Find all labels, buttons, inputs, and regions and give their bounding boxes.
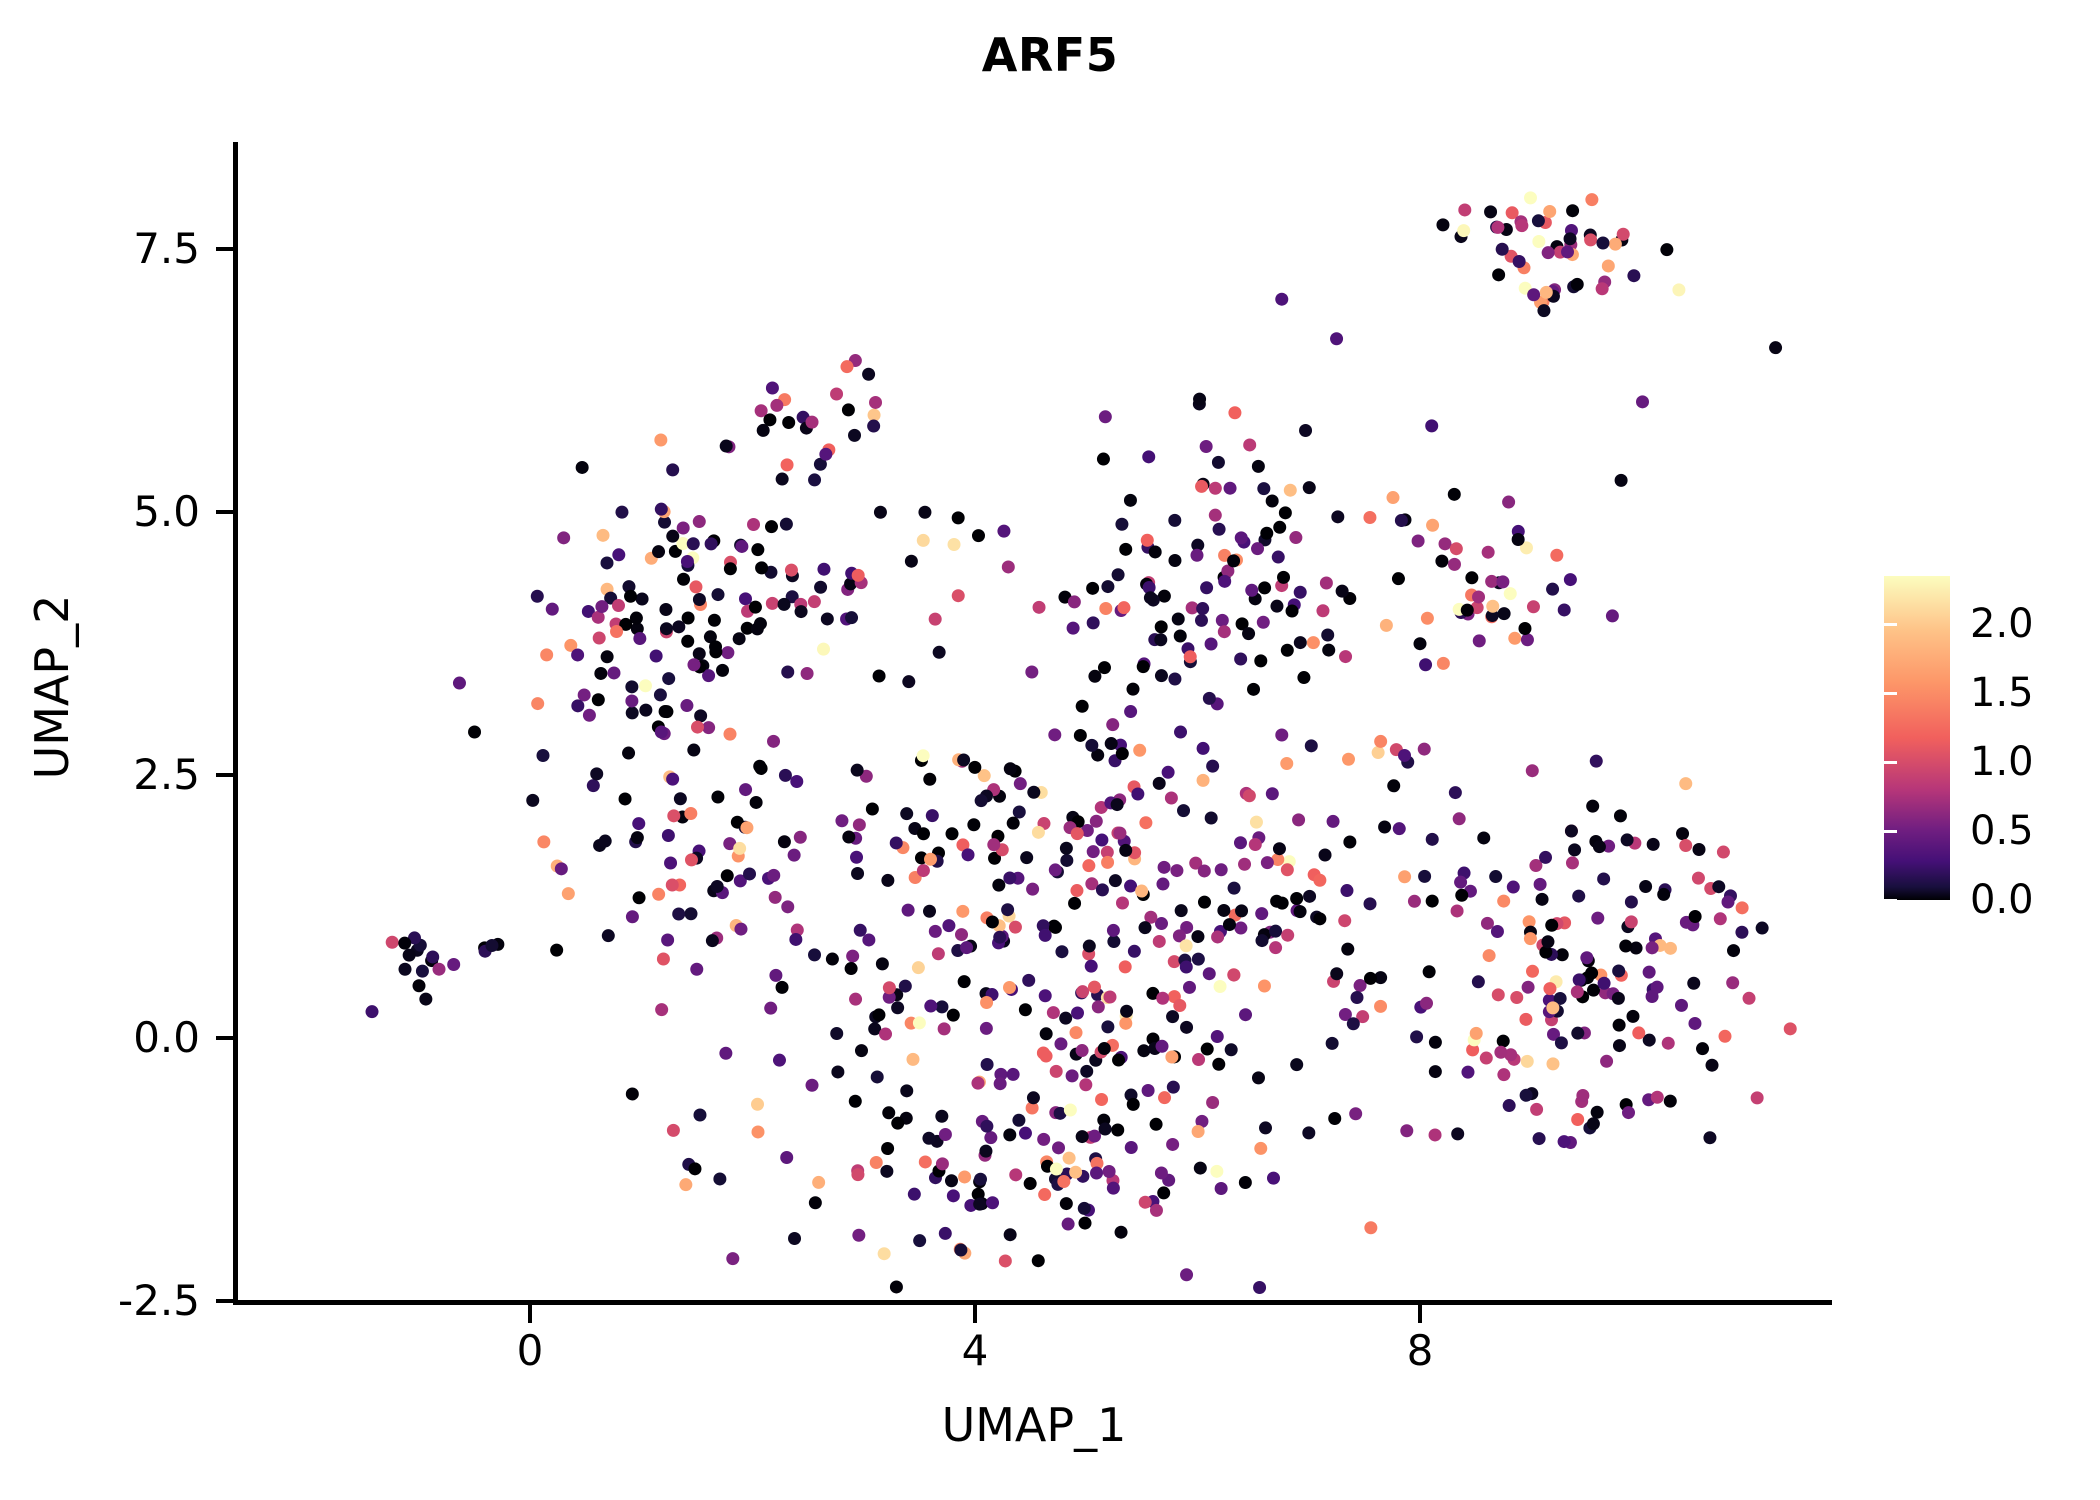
scatter-point xyxy=(1527,600,1540,613)
scatter-point xyxy=(992,879,1005,892)
scatter-point xyxy=(1326,1037,1339,1050)
scatter-point xyxy=(1565,825,1578,838)
scatter-point xyxy=(785,564,798,577)
scatter-point xyxy=(1284,484,1297,497)
scatter-point xyxy=(1484,205,1497,218)
y-tick-label: -2.5 xyxy=(0,1280,200,1322)
scatter-point xyxy=(763,413,776,426)
scatter-point xyxy=(1085,960,1098,973)
x-tick-label: 4 xyxy=(895,1330,1055,1372)
plot-panel[interactable] xyxy=(236,142,1832,1303)
scatter-point xyxy=(1217,904,1230,917)
scatter-point xyxy=(880,1165,893,1178)
scatter-point xyxy=(693,593,706,606)
scatter-point xyxy=(1007,817,1020,830)
scatter-point xyxy=(1067,622,1080,635)
scatter-point xyxy=(938,1022,951,1035)
scatter-point xyxy=(1688,1017,1701,1030)
scatter-point xyxy=(1107,935,1120,948)
scatter-point xyxy=(1166,1138,1179,1151)
scatter-point xyxy=(1167,1081,1180,1094)
scatter-point xyxy=(1198,864,1211,877)
scatter-point xyxy=(881,874,894,887)
scatter-point xyxy=(633,891,646,904)
scatter-point xyxy=(1281,929,1294,942)
scatter-point xyxy=(808,473,821,486)
scatter-point xyxy=(1052,1141,1065,1154)
scatter-point xyxy=(1717,846,1730,859)
scatter-point xyxy=(776,473,789,486)
scatter-point xyxy=(1719,1030,1732,1043)
scatter-point xyxy=(666,878,679,891)
scatter-point xyxy=(776,981,789,994)
scatter-point xyxy=(1481,917,1494,930)
scatter-point xyxy=(666,773,679,786)
scatter-point xyxy=(666,463,679,476)
scatter-point xyxy=(1247,683,1260,696)
scatter-point xyxy=(654,688,667,701)
scatter-point xyxy=(601,650,614,663)
scatter-point xyxy=(1270,895,1283,908)
scatter-point xyxy=(1736,901,1749,914)
scatter-point xyxy=(902,904,915,917)
scatter-point xyxy=(1662,1037,1675,1050)
scatter-point xyxy=(1303,890,1316,903)
scatter-point xyxy=(619,792,632,805)
scatter-point xyxy=(716,664,729,677)
scatter-point xyxy=(1330,332,1343,345)
scatter-point xyxy=(773,1054,786,1067)
scatter-point xyxy=(1092,1000,1105,1013)
scatter-point xyxy=(622,747,635,760)
scatter-point xyxy=(1286,605,1299,618)
scatter-point xyxy=(1423,965,1436,978)
scatter-point xyxy=(721,646,734,659)
scatter-point xyxy=(1679,777,1692,790)
colorbar-tick-mark xyxy=(2061,899,2074,902)
scatter-point xyxy=(526,794,539,807)
scatter-point xyxy=(1120,1005,1133,1018)
scatter-point xyxy=(625,680,638,693)
scatter-point xyxy=(1215,863,1228,876)
scatter-point xyxy=(1712,880,1725,893)
scatter-point xyxy=(1245,584,1258,597)
scatter-point xyxy=(780,518,793,531)
x-axis-line xyxy=(236,1300,1832,1305)
scatter-point xyxy=(709,640,722,653)
scatter-point xyxy=(1027,786,1040,799)
scatter-point xyxy=(562,887,575,900)
scatter-point xyxy=(1069,1166,1082,1179)
scatter-point xyxy=(1009,1168,1022,1181)
scatter-point xyxy=(639,704,652,717)
scatter-point xyxy=(936,1157,949,1170)
scatter-point xyxy=(1497,1035,1510,1048)
scatter-point xyxy=(1275,293,1288,306)
scatter-point xyxy=(1486,600,1499,613)
y-tick-label: 7.5 xyxy=(0,228,200,270)
scatter-point xyxy=(1218,575,1231,588)
x-tick-mark xyxy=(1418,1305,1422,1323)
scatter-point xyxy=(657,952,670,965)
scatter-point xyxy=(1436,218,1449,231)
scatter-point xyxy=(1597,872,1610,885)
scatter-point xyxy=(1374,735,1387,748)
scatter-point xyxy=(601,556,614,569)
scatter-point xyxy=(1387,491,1400,504)
scatter-point xyxy=(416,965,429,978)
scatter-point xyxy=(1235,904,1248,917)
scatter-point xyxy=(1144,591,1157,604)
scatter-point xyxy=(662,829,675,842)
scatter-point xyxy=(851,764,864,777)
scatter-point xyxy=(626,1087,639,1100)
colorbar-tick-mark xyxy=(2061,623,2074,626)
scatter-point xyxy=(999,1254,1012,1267)
scatter-point xyxy=(1524,191,1537,204)
scatter-point xyxy=(557,531,570,544)
scatter-point xyxy=(1419,658,1432,671)
scatter-point xyxy=(1003,1128,1016,1141)
scatter-point xyxy=(853,818,866,831)
scatter-point xyxy=(593,632,606,645)
scatter-point xyxy=(612,599,625,612)
scatter-point xyxy=(1426,895,1439,908)
scatter-point xyxy=(972,529,985,542)
scatter-point xyxy=(1227,554,1240,567)
scatter-point xyxy=(540,648,553,661)
scatter-point xyxy=(935,1000,948,1013)
scatter-point xyxy=(1068,897,1081,910)
scatter-point xyxy=(1472,975,1485,988)
colorbar-tick-mark xyxy=(1884,899,1897,902)
scatter-point xyxy=(612,548,625,561)
scatter-point xyxy=(1307,636,1320,649)
scatter-point xyxy=(1380,619,1393,632)
scatter-point xyxy=(987,838,1000,851)
scatter-point xyxy=(419,993,432,1006)
scatter-point xyxy=(1055,945,1068,958)
scatter-point xyxy=(1546,1001,1559,1014)
scatter-point xyxy=(1251,542,1264,555)
scatter-point xyxy=(1703,1131,1716,1144)
scatter-point xyxy=(693,647,706,660)
scatter-point xyxy=(1726,976,1739,989)
scatter-point xyxy=(597,529,610,542)
scatter-point xyxy=(694,709,707,722)
scatter-point xyxy=(1095,833,1108,846)
scatter-point xyxy=(1364,1221,1377,1234)
scatter-point xyxy=(639,679,652,692)
scatter-point xyxy=(905,555,918,568)
scatter-point xyxy=(1526,965,1539,978)
scatter-point xyxy=(935,1110,948,1123)
scatter-point xyxy=(666,530,679,543)
scatter-point xyxy=(1636,395,1649,408)
x-axis-label: UMAP_1 xyxy=(236,1398,1832,1452)
scatter-point xyxy=(1269,941,1282,954)
scatter-point xyxy=(684,907,697,920)
scatter-point xyxy=(1025,665,1038,678)
scatter-point xyxy=(1613,1019,1626,1032)
scatter-point xyxy=(1087,616,1100,629)
scatter-point xyxy=(1319,848,1332,861)
scatter-point xyxy=(531,590,544,603)
scatter-point xyxy=(1492,268,1505,281)
scatter-point xyxy=(1049,921,1062,934)
scatter-point xyxy=(929,613,942,626)
scatter-point xyxy=(872,1008,885,1021)
scatter-point xyxy=(1078,1202,1091,1215)
scatter-point xyxy=(366,1005,379,1018)
scatter-point xyxy=(1195,614,1208,627)
scatter-point xyxy=(1533,1132,1546,1145)
scatter-point xyxy=(1266,787,1279,800)
scatter-point xyxy=(1342,753,1355,766)
scatter-point xyxy=(1258,979,1271,992)
scatter-point xyxy=(1165,792,1178,805)
scatter-point xyxy=(1657,888,1670,901)
scatter-point xyxy=(1494,1046,1507,1059)
scatter-point xyxy=(1166,1010,1179,1023)
scatter-point xyxy=(1587,1117,1600,1130)
scatter-point xyxy=(794,831,807,844)
scatter-point xyxy=(1448,558,1461,571)
scatter-point xyxy=(1090,815,1103,828)
scatter-point xyxy=(576,461,589,474)
scatter-point xyxy=(1116,896,1129,909)
scatter-point xyxy=(852,569,865,582)
scatter-point xyxy=(1277,571,1290,584)
scatter-point xyxy=(1001,903,1014,916)
scatter-point xyxy=(1305,739,1318,752)
scatter-point xyxy=(1047,1006,1060,1019)
scatter-point xyxy=(1470,1027,1483,1040)
scatter-point xyxy=(876,957,889,970)
scatter-point xyxy=(1341,943,1354,956)
scatter-point xyxy=(1003,981,1016,994)
scatter-point xyxy=(1496,243,1509,256)
scatter-point xyxy=(1095,1093,1108,1106)
scatter-point xyxy=(1458,203,1471,216)
scatter-point xyxy=(1215,1182,1228,1195)
scatter-point xyxy=(849,993,862,1006)
scatter-point xyxy=(1472,590,1485,603)
scatter-point xyxy=(1387,779,1400,792)
scatter-point xyxy=(994,1077,1007,1090)
scatter-point xyxy=(599,835,612,848)
scatter-point xyxy=(1250,816,1263,829)
scatter-point xyxy=(1227,969,1240,982)
scatter-point xyxy=(1639,880,1652,893)
scatter-point xyxy=(924,1000,937,1013)
scatter-point xyxy=(1070,1026,1083,1039)
scatter-point xyxy=(1496,575,1509,588)
scatter-point xyxy=(1426,833,1439,846)
scatter-point xyxy=(1534,878,1547,891)
scatter-point xyxy=(1272,551,1285,564)
scatter-point xyxy=(1532,235,1545,248)
scatter-point xyxy=(755,561,768,574)
scatter-point xyxy=(1512,533,1525,546)
scatter-point xyxy=(1598,977,1611,990)
scatter-point xyxy=(956,905,969,918)
scatter-point xyxy=(867,420,880,433)
scatter-point xyxy=(1521,633,1534,646)
scatter-point xyxy=(693,1109,706,1122)
scatter-point xyxy=(667,1124,680,1137)
scatter-point xyxy=(980,1022,993,1035)
scatter-point xyxy=(766,382,779,395)
scatter-point xyxy=(899,980,912,993)
scatter-point xyxy=(664,857,677,870)
scatter-point xyxy=(1203,692,1216,705)
scatter-point xyxy=(1450,542,1463,555)
scatter-point xyxy=(817,563,830,576)
scatter-points-layer xyxy=(236,142,1832,1303)
scatter-point xyxy=(826,953,839,966)
scatter-point xyxy=(1088,1130,1101,1143)
scatter-point xyxy=(537,835,550,848)
scatter-point xyxy=(1127,1098,1140,1111)
scatter-point xyxy=(743,867,756,880)
scatter-point xyxy=(1340,884,1353,897)
scatter-point xyxy=(1197,742,1210,755)
scatter-point xyxy=(1566,856,1579,869)
scatter-point xyxy=(924,853,937,866)
scatter-point xyxy=(1426,519,1439,532)
scatter-point xyxy=(1139,816,1152,829)
scatter-point xyxy=(891,1117,904,1130)
scatter-point xyxy=(633,632,646,645)
scatter-point xyxy=(1254,1142,1267,1155)
scatter-point xyxy=(1063,1152,1076,1165)
scatter-point xyxy=(830,388,843,401)
scatter-point xyxy=(1328,1112,1341,1125)
y-tick-mark xyxy=(216,510,234,514)
scatter-point xyxy=(1113,827,1126,840)
scatter-point xyxy=(801,667,814,680)
scatter-point xyxy=(845,611,858,624)
colorbar-tick-mark xyxy=(2061,761,2074,764)
scatter-point xyxy=(626,910,639,923)
scatter-point xyxy=(1322,644,1335,657)
scatter-point xyxy=(908,1188,921,1201)
scatter-point xyxy=(1675,999,1688,1012)
scatter-point xyxy=(1087,845,1100,858)
scatter-point xyxy=(1103,1165,1116,1178)
umap-feature-plot: ARF5 7.55.02.50.0-2.5 048 UMAP_1 UMAP_2 … xyxy=(0,0,2100,1500)
scatter-point xyxy=(1183,981,1196,994)
scatter-point xyxy=(913,1234,926,1247)
scatter-point xyxy=(739,592,752,605)
scatter-point xyxy=(1209,509,1222,522)
scatter-point xyxy=(583,709,596,722)
scatter-point xyxy=(1571,1113,1584,1126)
scatter-point xyxy=(1564,232,1577,245)
scatter-point xyxy=(1224,482,1237,495)
scatter-point xyxy=(939,1128,952,1141)
scatter-point xyxy=(1347,1017,1360,1030)
scatter-point xyxy=(1664,942,1677,955)
scatter-point xyxy=(1545,919,1558,932)
scatter-point xyxy=(652,545,665,558)
x-tick-label: 8 xyxy=(1340,1330,1500,1372)
scatter-point xyxy=(1225,1043,1238,1056)
scatter-point xyxy=(1676,827,1689,840)
scatter-point xyxy=(958,975,971,988)
scatter-point xyxy=(1156,1040,1169,1053)
scatter-point xyxy=(1558,603,1571,616)
scatter-point xyxy=(1112,568,1125,581)
scatter-point xyxy=(830,1027,843,1040)
colorbar-legend[interactable]: 2.01.51.00.50.0 xyxy=(1884,576,2074,906)
scatter-point xyxy=(1275,729,1288,742)
scatter-point xyxy=(1489,870,1502,883)
scatter-point xyxy=(1150,1204,1163,1217)
scatter-point xyxy=(632,817,645,830)
scatter-point xyxy=(1173,999,1186,1012)
colorbar-tick-mark xyxy=(2061,692,2074,695)
scatter-point xyxy=(1197,774,1210,787)
scatter-point xyxy=(711,880,724,893)
scatter-point xyxy=(693,515,706,528)
scatter-point xyxy=(1596,236,1609,249)
scatter-point xyxy=(706,934,719,947)
scatter-point xyxy=(1321,628,1334,641)
scatter-point xyxy=(1550,549,1563,562)
scatter-point xyxy=(607,666,620,679)
scatter-point xyxy=(1465,571,1478,584)
colorbar-tick-mark xyxy=(1884,830,1897,833)
scatter-point xyxy=(1619,940,1632,953)
scatter-point xyxy=(767,735,780,748)
scatter-point xyxy=(1133,744,1146,757)
scatter-point xyxy=(781,458,794,471)
scatter-point xyxy=(1541,935,1554,948)
scatter-point xyxy=(1158,1091,1171,1104)
scatter-point xyxy=(1612,964,1625,977)
scatter-point xyxy=(789,933,802,946)
scatter-point xyxy=(1586,800,1599,813)
scatter-point xyxy=(881,1142,894,1155)
scatter-point xyxy=(1585,967,1598,980)
scatter-point xyxy=(1175,904,1188,917)
scatter-point xyxy=(1473,634,1486,647)
scatter-point xyxy=(986,915,999,928)
scatter-point xyxy=(967,818,980,831)
scatter-point xyxy=(1273,842,1286,855)
scatter-point xyxy=(1239,1008,1252,1021)
scatter-point xyxy=(933,646,946,659)
scatter-point xyxy=(1339,650,1352,663)
scatter-point xyxy=(1281,863,1294,876)
scatter-point xyxy=(555,862,568,875)
scatter-point xyxy=(1573,973,1586,986)
scatter-point xyxy=(960,941,973,954)
scatter-point xyxy=(900,807,913,820)
scatter-point xyxy=(1571,1027,1584,1040)
scatter-point xyxy=(595,600,608,613)
scatter-point xyxy=(1157,1186,1170,1199)
scatter-point xyxy=(1410,1030,1423,1043)
scatter-point xyxy=(1537,304,1550,317)
scatter-point xyxy=(1014,777,1027,790)
scatter-point xyxy=(1414,637,1427,650)
scatter-point xyxy=(871,1070,884,1083)
scatter-point xyxy=(1660,243,1673,256)
scatter-point xyxy=(1049,863,1062,876)
